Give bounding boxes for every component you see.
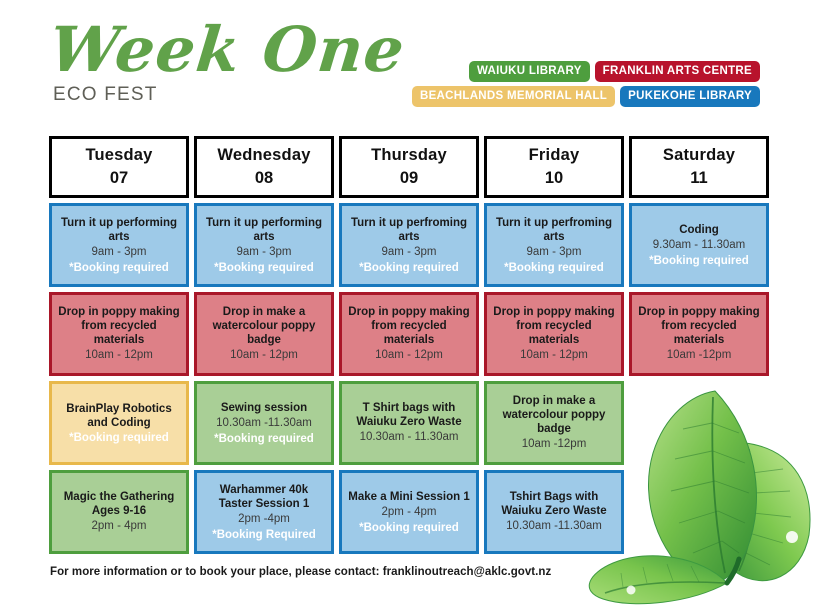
day-name: Saturday [663,146,735,165]
event-title: Drop in poppy making from recycled mater… [492,305,616,347]
calendar-row-2: Drop in poppy making from recycled mater… [49,292,769,376]
day-header-thursday: Thursday 09 [339,136,479,198]
calendar-event-rows: Turn it up performing arts9am - 3pm*Book… [49,203,769,554]
calendar-header-row: Tuesday 07 Wednesday 08 Thursday 09 Frid… [49,136,769,198]
event-time: 10am - 12pm [230,348,298,363]
event-card-wednesday-2[interactable]: Drop in make a watercolour poppy badge10… [194,292,334,376]
day-name: Thursday [371,146,447,165]
day-number: 11 [690,169,707,188]
event-time: 10am -12pm [667,348,732,363]
event-time: 10am - 12pm [375,348,443,363]
page-subtitle: ECO FEST [53,84,405,106]
calendar-grid: Tuesday 07 Wednesday 08 Thursday 09 Frid… [49,136,769,559]
event-booking-note: *Booking Required [212,528,316,542]
event-cell-empty-saturday-4 [629,470,769,554]
event-card-friday-2[interactable]: Drop in poppy making from recycled mater… [484,292,624,376]
event-title: Turn it up perfroming arts [492,216,616,244]
event-card-thursday-4[interactable]: Make a Mini Session 12pm - 4pm*Booking r… [339,470,479,554]
event-cell-empty-saturday-3 [629,381,769,465]
event-time: 9am - 3pm [237,245,292,260]
event-title: Turn it up perfroming arts [347,216,471,244]
event-booking-note: *Booking required [69,431,169,445]
calendar-row-4: Magic the Gathering Ages 9-162pm - 4pmWa… [49,470,769,554]
event-card-tuesday-3[interactable]: BrainPlay Robotics and Coding*Booking re… [49,381,189,465]
event-title: Magic the Gathering Ages 9-16 [57,490,181,518]
day-name: Tuesday [85,146,152,165]
day-number: 10 [545,169,563,188]
event-title: Make a Mini Session 1 [348,490,469,504]
page-title: Week One [47,18,408,82]
event-card-thursday-1[interactable]: Turn it up perfroming arts9am - 3pm*Book… [339,203,479,287]
event-title: Drop in poppy making from recycled mater… [347,305,471,347]
legend-badge-pukekohe-library: PUKEKOHE LIBRARY [620,86,760,107]
event-booking-note: *Booking required [214,432,314,446]
event-card-wednesday-1[interactable]: Turn it up performing arts9am - 3pm*Book… [194,203,334,287]
event-booking-note: *Booking required [214,261,314,275]
event-title: Drop in poppy making from recycled mater… [57,305,181,347]
venue-legend: WAIUKU LIBRARY FRANKLIN ARTS CENTRE BEAC… [440,61,760,107]
day-header-wednesday: Wednesday 08 [194,136,334,198]
event-time: 2pm -4pm [238,512,290,527]
event-card-tuesday-1[interactable]: Turn it up performing arts9am - 3pm*Book… [49,203,189,287]
poster-header: Week One ECO FEST WAIUKU LIBRARY FRANKLI… [0,0,817,132]
event-card-wednesday-4[interactable]: Warhammer 40k Taster Session 12pm -4pm*B… [194,470,334,554]
legend-badge-franklin-arts-centre: FRANKLIN ARTS CENTRE [595,61,760,82]
legend-row-1: WAIUKU LIBRARY FRANKLIN ARTS CENTRE [469,61,760,82]
event-time: 10am -12pm [522,437,587,452]
day-number: 09 [400,169,418,188]
day-header-tuesday: Tuesday 07 [49,136,189,198]
event-card-friday-3[interactable]: Drop in make a watercolour poppy badge10… [484,381,624,465]
event-booking-note: *Booking required [359,521,459,535]
title-block: Week One ECO FEST [50,18,405,106]
calendar-row-1: Turn it up performing arts9am - 3pm*Book… [49,203,769,287]
event-card-wednesday-3[interactable]: Sewing session10.30am -11.30am*Booking r… [194,381,334,465]
contact-footer: For more information or to book your pla… [50,566,551,578]
event-time: 2pm - 4pm [92,519,147,534]
event-card-thursday-2[interactable]: Drop in poppy making from recycled mater… [339,292,479,376]
event-title: Turn it up performing arts [57,216,181,244]
event-time: 9am - 3pm [527,245,582,260]
day-number: 08 [255,169,273,188]
event-card-friday-1[interactable]: Turn it up perfroming arts9am - 3pm*Book… [484,203,624,287]
event-time: 10.30am -11.30am [216,416,312,431]
day-header-friday: Friday 10 [484,136,624,198]
event-card-saturday-2[interactable]: Drop in poppy making from recycled mater… [629,292,769,376]
event-title: Drop in make a watercolour poppy badge [492,394,616,436]
event-card-tuesday-4[interactable]: Magic the Gathering Ages 9-162pm - 4pm [49,470,189,554]
event-booking-note: *Booking required [69,261,169,275]
event-time: 9.30am - 11.30am [653,238,745,253]
event-booking-note: *Booking required [649,254,749,268]
event-card-saturday-1[interactable]: Coding9.30am - 11.30am*Booking required [629,203,769,287]
event-card-thursday-3[interactable]: T Shirt bags with Waiuku Zero Waste10.30… [339,381,479,465]
event-title: Drop in make a watercolour poppy badge [202,305,326,347]
event-title: BrainPlay Robotics and Coding [57,402,181,430]
event-time: 2pm - 4pm [382,505,437,520]
event-title: T Shirt bags with Waiuku Zero Waste [347,401,471,429]
event-card-tuesday-2[interactable]: Drop in poppy making from recycled mater… [49,292,189,376]
event-time: 10am - 12pm [520,348,588,363]
event-title: Coding [679,223,719,237]
event-booking-note: *Booking required [359,261,459,275]
day-name: Friday [529,146,580,165]
event-title: Drop in poppy making from recycled mater… [637,305,761,347]
event-time: 9am - 3pm [382,245,437,260]
event-title: Warhammer 40k Taster Session 1 [202,483,326,511]
event-card-friday-4[interactable]: Tshirt Bags with Waiuku Zero Waste10.30a… [484,470,624,554]
legend-row-2: BEACHLANDS MEMORIAL HALL PUKEKOHE LIBRAR… [412,86,760,107]
day-number: 07 [110,169,128,188]
day-name: Wednesday [217,146,310,165]
event-time: 10.30am -11.30am [506,519,602,534]
event-time: 9am - 3pm [92,245,147,260]
event-title: Tshirt Bags with Waiuku Zero Waste [492,490,616,518]
event-booking-note: *Booking required [504,261,604,275]
legend-badge-beachlands-memorial-hall: BEACHLANDS MEMORIAL HALL [412,86,615,107]
event-time: 10am - 12pm [85,348,153,363]
event-title: Turn it up performing arts [202,216,326,244]
day-header-saturday: Saturday 11 [629,136,769,198]
event-time: 10.30am - 11.30am [360,430,459,445]
event-title: Sewing session [221,401,307,415]
legend-badge-waiuku-library: WAIUKU LIBRARY [469,61,590,82]
calendar-row-3: BrainPlay Robotics and Coding*Booking re… [49,381,769,465]
